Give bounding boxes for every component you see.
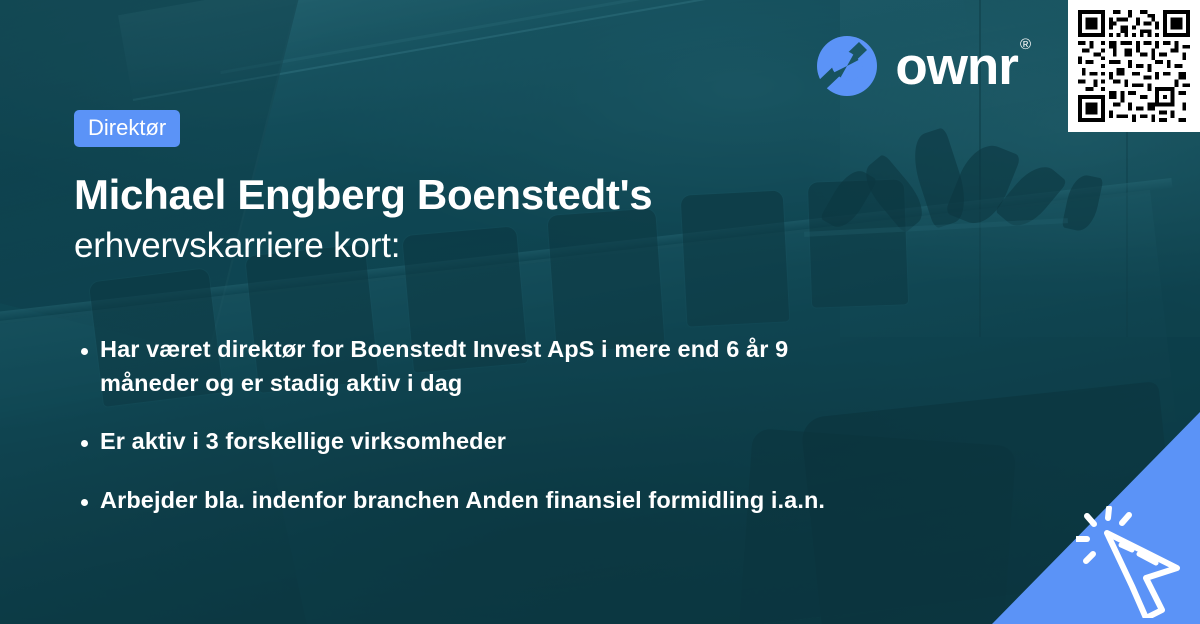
profile-card: ownr® Direktør Michael Engberg Boenstedt… [0,0,1200,624]
logo-text-label: ownr [895,37,1018,96]
career-summary-list: Har været direktør for Boenstedt Invest … [74,333,1000,517]
list-item: Er aktiv i 3 forskellige virksomheder [74,425,864,459]
qr-code-icon[interactable] [1078,10,1190,122]
ownr-circle-swirl-icon [815,34,879,98]
ownr-logo[interactable]: ownr® [815,34,1030,98]
list-item: Arbejder bla. indenfor branchen Anden fi… [74,484,864,518]
qr-code-block[interactable] [1068,0,1200,132]
ownr-wordmark: ownr® [895,40,1030,93]
card-content: Direktør Michael Engberg Boenstedt's erh… [74,110,1000,517]
list-item: Har været direktør for Boenstedt Invest … [74,333,864,400]
registered-mark: ® [1020,36,1030,53]
page-subtitle: erhvervskarriere kort: [74,225,1000,267]
page-title: Michael Engberg Boenstedt's [74,171,1000,219]
role-badge: Direktør [74,110,180,147]
